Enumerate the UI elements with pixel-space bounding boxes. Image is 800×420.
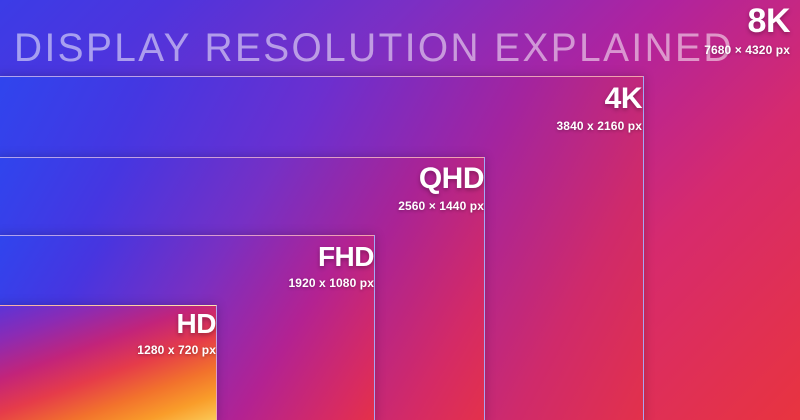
resolution-label-4k: 4K 3840 x 2160 px — [557, 84, 642, 132]
resolution-tier-qhd: QHD — [398, 164, 484, 194]
resolution-dimensions-hd: 1280 x 720 px — [137, 344, 216, 356]
infographic-canvas: DISPLAY RESOLUTION EXPLAINED 8K 7680 × 4… — [0, 0, 800, 420]
resolution-label-qhd: QHD 2560 × 1440 px — [398, 164, 484, 212]
resolution-label-hd: HD 1280 x 720 px — [137, 310, 216, 356]
page-title: DISPLAY RESOLUTION EXPLAINED — [14, 26, 734, 71]
resolution-tier-8k: 8K — [704, 4, 790, 38]
resolution-label-fhd: FHD 1920 x 1080 px — [289, 243, 374, 289]
resolution-dimensions-qhd: 2560 × 1440 px — [398, 200, 484, 212]
resolution-dimensions-fhd: 1920 x 1080 px — [289, 277, 374, 289]
resolution-dimensions-4k: 3840 x 2160 px — [557, 120, 642, 132]
resolution-tier-4k: 4K — [557, 84, 642, 114]
resolution-tier-fhd: FHD — [289, 243, 374, 271]
resolution-label-8k: 8K 7680 × 4320 px — [704, 4, 790, 56]
resolution-tier-hd: HD — [137, 310, 216, 338]
resolution-dimensions-8k: 7680 × 4320 px — [704, 44, 790, 56]
